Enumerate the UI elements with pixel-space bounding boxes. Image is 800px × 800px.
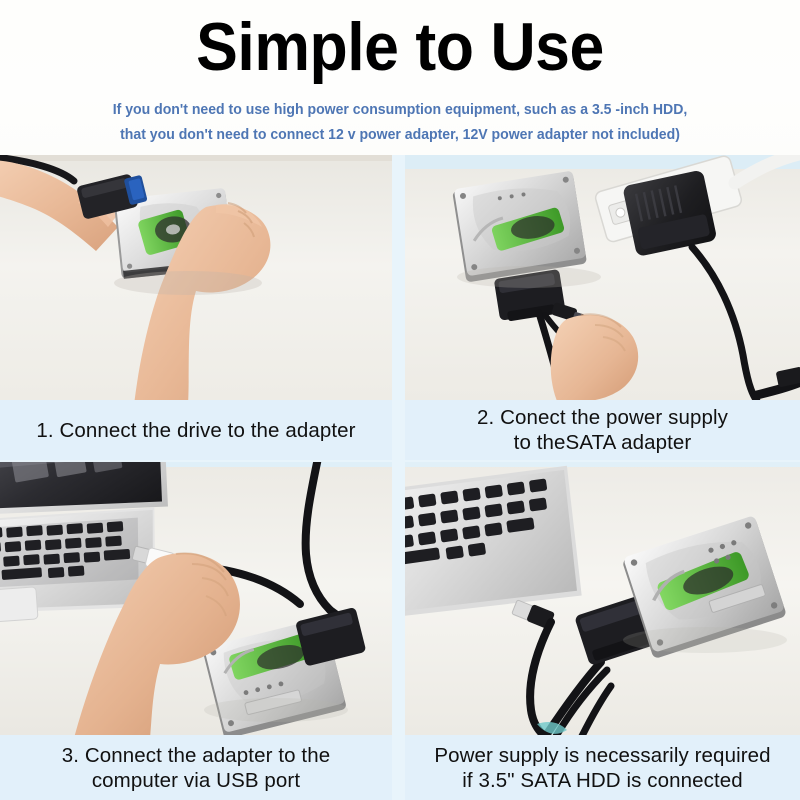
step-3-caption-line-2: computer via USB port <box>62 768 330 793</box>
step-4-caption-line-2: if 3.5" SATA HDD is connected <box>434 768 770 793</box>
page-title: Simple to Use <box>32 5 768 89</box>
step-3-caption-line-1: 3. Connect the adapter to the <box>62 743 330 768</box>
header-banner: Simple to Use If you don't need to use h… <box>0 0 800 155</box>
subtitle-line-2: that you don't need to connect 12 v powe… <box>12 123 788 148</box>
subtitle-line-1: If you don't need to use high power cons… <box>12 98 788 123</box>
step-2-illustration <box>405 155 800 400</box>
step-3-caption: 3. Connect the adapter to the computer v… <box>0 735 392 800</box>
step-2-caption-line-1: 2. Conect the power supply <box>477 405 728 430</box>
step-1-caption-line-1: 1. Connect the drive to the adapter <box>36 418 355 443</box>
step-2-caption-line-2: to theSATA adapter <box>477 430 728 455</box>
step-3-illustration <box>0 462 392 735</box>
step-2-photo <box>405 155 800 400</box>
infographic-page: Simple to Use If you don't need to use h… <box>0 0 800 800</box>
step-1-caption: 1. Connect the drive to the adapter <box>0 400 392 460</box>
step-4-photo <box>405 462 800 735</box>
page-subtitle: If you don't need to use high power cons… <box>12 98 788 148</box>
step-4-illustration <box>405 462 800 735</box>
step-1-photo <box>0 155 392 400</box>
step-3-photo <box>0 462 392 735</box>
step-4-caption: Power supply is necessarily required if … <box>405 735 800 800</box>
step-2-caption: 2. Conect the power supply to theSATA ad… <box>405 400 800 460</box>
step-4-caption-line-1: Power supply is necessarily required <box>434 743 770 768</box>
step-1-illustration <box>0 155 392 400</box>
